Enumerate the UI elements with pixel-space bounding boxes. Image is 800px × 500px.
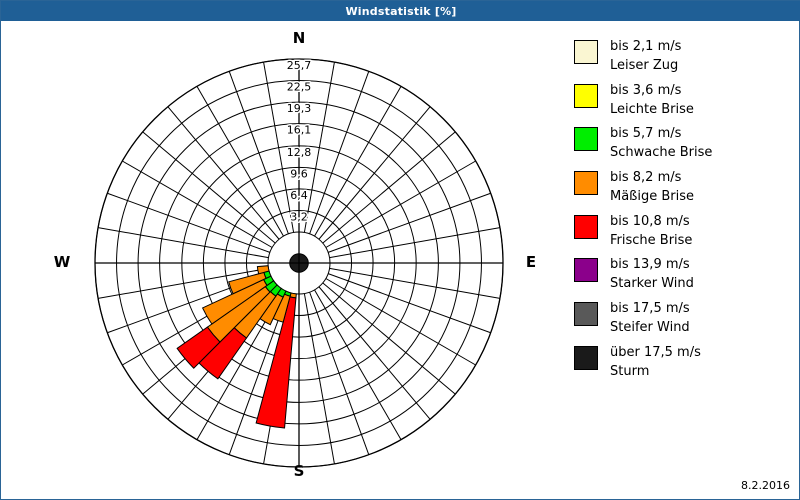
legend-name: Mäßige Brise xyxy=(610,188,694,207)
legend-name: Schwache Brise xyxy=(610,144,712,163)
windstatistik-window: Windstatistik [%] 3,23,26,46,49,69,612,8… xyxy=(0,0,800,500)
legend-swatch xyxy=(574,302,598,326)
legend-label: bis 2,1 m/s Leiser Zug xyxy=(610,38,681,76)
legend-item[interactable]: bis 13,9 m/s Starker Wind xyxy=(574,256,794,294)
legend-label: bis 3,6 m/s Leichte Brise xyxy=(610,82,694,120)
wind-rose-svg: 3,23,26,46,49,69,612,812,816,116,119,319… xyxy=(2,22,572,478)
legend-item[interactable]: bis 17,5 m/s Steifer Wind xyxy=(574,300,794,338)
legend-swatch xyxy=(574,127,598,151)
legend-name: Starker Wind xyxy=(610,275,694,294)
legend-label: bis 17,5 m/s Steifer Wind xyxy=(610,300,690,338)
legend-label: bis 10,8 m/s Frische Brise xyxy=(610,213,692,251)
legend-speed: bis 3,6 m/s xyxy=(610,83,681,98)
legend-swatch xyxy=(574,258,598,282)
legend-swatch xyxy=(574,171,598,195)
chart-area: 3,23,26,46,49,69,612,812,816,116,119,319… xyxy=(2,22,798,478)
legend-speed: bis 10,8 m/s xyxy=(610,214,690,229)
legend-speed: bis 17,5 m/s xyxy=(610,301,690,316)
legend-name: Sturm xyxy=(610,363,701,382)
radial-tick-label: 25,7 xyxy=(287,59,312,72)
legend-speed: bis 2,1 m/s xyxy=(610,39,681,54)
legend-item[interactable]: bis 3,6 m/s Leichte Brise xyxy=(574,82,794,120)
legend-item[interactable]: bis 8,2 m/s Mäßige Brise xyxy=(574,169,794,207)
radial-tick-label: 9,6 xyxy=(290,167,308,180)
radial-tick-label: 16,1 xyxy=(287,124,312,137)
radial-tick-label: 19,3 xyxy=(287,102,312,115)
legend-name: Frische Brise xyxy=(610,232,692,251)
legend-item[interactable]: bis 5,7 m/s Schwache Brise xyxy=(574,125,794,163)
polar-axis-lines xyxy=(95,59,503,467)
legend-label: über 17,5 m/s Sturm xyxy=(610,344,701,382)
legend-item[interactable]: bis 2,1 m/s Leiser Zug xyxy=(574,38,794,76)
date-stamp: 8.2.2016 xyxy=(741,479,790,492)
legend-label: bis 8,2 m/s Mäßige Brise xyxy=(610,169,694,207)
legend-item[interactable]: bis 10,8 m/s Frische Brise xyxy=(574,213,794,251)
legend-label: bis 5,7 m/s Schwache Brise xyxy=(610,125,712,163)
radial-tick-label: 12,8 xyxy=(287,146,312,159)
legend-name: Leiser Zug xyxy=(610,57,681,76)
radial-tick-label: 22,5 xyxy=(287,81,312,94)
radial-tick-label: 3,2 xyxy=(290,210,308,223)
legend-speed: über 17,5 m/s xyxy=(610,345,701,360)
legend-name: Steifer Wind xyxy=(610,319,690,338)
legend-speed: bis 8,2 m/s xyxy=(610,170,681,185)
legend-name: Leichte Brise xyxy=(610,101,694,120)
legend-swatch xyxy=(574,84,598,108)
legend-swatch xyxy=(574,346,598,370)
legend-speed: bis 5,7 m/s xyxy=(610,126,681,141)
legend-swatch xyxy=(574,215,598,239)
wind-rose: 3,23,26,46,49,69,612,812,816,116,119,319… xyxy=(2,22,572,478)
radial-tick-label: 6,4 xyxy=(290,189,308,202)
window-title-bar: Windstatistik [%] xyxy=(1,1,800,21)
footer: 8.2.2016 xyxy=(2,476,798,498)
legend-speed: bis 13,9 m/s xyxy=(610,257,690,272)
window-title: Windstatistik [%] xyxy=(345,5,456,18)
legend-item[interactable]: über 17,5 m/s Sturm xyxy=(574,344,794,382)
legend: bis 2,1 m/s Leiser Zug bis 3,6 m/s Leich… xyxy=(574,38,794,388)
legend-label: bis 13,9 m/s Starker Wind xyxy=(610,256,694,294)
legend-swatch xyxy=(574,40,598,64)
